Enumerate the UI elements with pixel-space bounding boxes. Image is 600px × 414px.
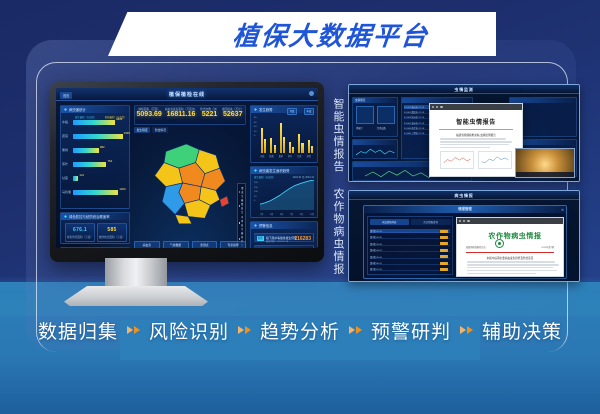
document-rule (439, 129, 513, 130)
panel-title: 病虫害统计 (69, 107, 86, 112)
table-row[interactable]: 第6期 06-12 (370, 261, 450, 265)
panel-title: 发生趋势 (259, 107, 273, 112)
y-axis-ticks: 200150100500 (254, 181, 258, 204)
x-tick: 茶叶 (288, 154, 292, 158)
text-line (467, 267, 553, 268)
document-charts (440, 151, 512, 169)
document-subtitle: 水稻中后期主要病虫发生趋势及防治意见 (461, 256, 559, 260)
bar (301, 143, 303, 153)
legend-row: 中等发生 (239, 215, 244, 231)
kpi-value: 5221 (200, 111, 219, 118)
bar (274, 145, 276, 153)
panel-occurrence-trend: 发生趋势 月度 年度 水稻蔬菜果树茶叶甘蔗其他 806040200 (250, 105, 318, 163)
table-row[interactable]: 第1期 01-15 (370, 229, 450, 233)
kpi-caption: 统防统治面积（万亩） (98, 235, 126, 239)
mini-dashboard: 虫情监测 虫情概览 测报灯 性诱设备 (349, 85, 579, 181)
mini-title: 虫情监测 (454, 87, 473, 93)
panel-header: 病虫害统计 (61, 106, 129, 113)
kpi-value: 16811.16 (165, 111, 197, 118)
panel-green-control: 绿色防控与统防统治覆盖率 676.1 绿色防控面积（万亩） 585 统防统治面积… (60, 212, 130, 244)
kpi-value: 5093.69 (137, 111, 162, 118)
bar (270, 138, 272, 153)
document-sparkline (443, 154, 471, 165)
legend-row: 偏重发生 (239, 198, 244, 214)
screenshot-pest-bulletin[interactable]: 病虫情报 情报管理 ✕ 病虫情报列表 历史情报查询 第1期 01-15第2期 0… (348, 190, 580, 282)
flow-arrow-icon (349, 326, 362, 334)
flow-step-3: 趋势分析 (260, 317, 340, 344)
toolbar-dot-icon (467, 220, 469, 222)
y-tick: 200 (254, 181, 258, 186)
dashboard: 首页 植保植检在线 病虫害统计 发生面积（万亩次） 防治面积（万亩次） 水稻18… (56, 88, 318, 248)
text-line (467, 270, 557, 271)
document-chart (440, 151, 474, 169)
text-line (440, 144, 509, 145)
table-row[interactable]: 第4期 04-22 (370, 248, 450, 252)
y-axis-ticks: 806040200 (254, 116, 256, 139)
bar-value: 121 (79, 173, 84, 177)
document-meta: 福建省植保植检总站 2024年第7期 (466, 245, 554, 249)
flow-step-1: 数据归集 (38, 317, 118, 344)
x-tick: 9月 (300, 212, 303, 216)
green-emblem-icon (495, 239, 504, 248)
flow-arrow-icon (238, 326, 251, 334)
legend-1: 发生面积（万亩次） (75, 115, 97, 119)
diamond-icon (254, 224, 257, 227)
bar-fill (73, 162, 106, 167)
document-toolbar[interactable] (457, 218, 563, 224)
diamond-icon (254, 108, 257, 111)
toolbar-dot-icon (463, 220, 465, 222)
dashboard-title: 植保植检在线 (169, 91, 205, 98)
mini-panel-title (353, 140, 397, 145)
x-tick: 3月 (270, 212, 273, 216)
meta-left: 福建省植保植检总站 (466, 245, 486, 249)
panel-title: 绿色防控与统防统治覆盖率 (69, 214, 110, 219)
action-badge[interactable] (440, 268, 448, 271)
sparkline-a (355, 146, 397, 158)
action-badge[interactable] (440, 236, 448, 239)
device-card (356, 106, 374, 124)
mini-dashboard: 病虫情报 情报管理 ✕ 病虫情报列表 历史情报查询 第1期 01-15第2期 0… (349, 191, 579, 281)
bar (283, 137, 285, 154)
bar-row: 甘蔗121 (73, 176, 127, 181)
x-tick: 5月 (280, 212, 283, 216)
modal-dialog[interactable]: 情报管理 ✕ 病虫情报列表 历史情报查询 第1期 01-15第2期 02-20第… (363, 205, 567, 279)
panel-title: 病虫害发生面积趋势 (259, 168, 290, 173)
label-crop-pest-bulletin: 农作物病虫情报 (326, 186, 343, 278)
panel-header: 预警信息 (251, 222, 317, 229)
toolbar-dot-icon (436, 106, 438, 108)
flow-arrow-icon (127, 326, 140, 334)
range-button-month[interactable]: 月度 (287, 108, 297, 115)
x-axis-ticks: 1月3月5月7月9月11月 (260, 212, 314, 216)
bar-value: 764 (107, 159, 112, 163)
document-subtitle: 福建省植保植检总站 虫情监测报告 (434, 133, 518, 137)
area-chart-svg (260, 180, 314, 210)
mini-panel-chart-a (352, 139, 398, 159)
kpi-item: 挽回损失（万元） 52637 (222, 106, 244, 118)
bar-value: 982 (100, 145, 105, 149)
monitor-screen: 首页 植保植检在线 病虫害统计 发生面积（万亩次） 防治面积（万亩次） 水稻18… (56, 88, 318, 248)
document-page: 智能虫情报告 福建省植保植检总站 虫情监测报告 (434, 112, 518, 173)
bar (264, 139, 266, 153)
flow-step-4: 预警研判 (371, 317, 451, 344)
action-badge[interactable] (440, 242, 448, 245)
image-thumbnail[interactable] (515, 148, 575, 178)
panel-area-trend: 病虫害发生面积趋势 发生面积（万亩次） 2024-01 至 2024-12 20… (250, 166, 318, 218)
meta-right: 2024年第7期 (541, 245, 554, 249)
panel-header: 病虫害发生面积趋势 (251, 167, 317, 174)
bar (280, 123, 282, 153)
document-title: 农作物病虫情报 (471, 231, 559, 241)
device-label: 性诱设备 (377, 126, 386, 130)
document-chart (478, 151, 512, 169)
text-line (440, 138, 506, 139)
badge: 预警 (257, 236, 264, 241)
range-button-year[interactable]: 年度 (304, 108, 314, 115)
map-button[interactable]: 病虫害 (134, 241, 160, 248)
x-tick: 水稻 (260, 154, 264, 158)
kpi-value: 52637 (222, 111, 244, 118)
kpi-value: 585 (98, 227, 126, 233)
bar-fill (73, 190, 118, 195)
bar-value: 1536 (124, 131, 130, 135)
legend-label: 重发生 (241, 186, 244, 198)
x-tick: 7月 (290, 212, 293, 216)
report-document[interactable]: 智能虫情报告 福建省植保植检总站 虫情监测报告 (429, 103, 523, 177)
dashboard-home-tag[interactable]: 首页 (60, 92, 72, 99)
bar-row: 果树982 (73, 148, 127, 153)
bar-fill (73, 120, 115, 125)
toolbar-dot-icon (440, 106, 442, 108)
document-toolbar[interactable] (430, 104, 522, 110)
action-badge[interactable] (440, 249, 448, 252)
bar-label: 果树 (62, 148, 68, 152)
mini-panel-title: 虫情概览 (353, 98, 397, 103)
bar-fill (73, 134, 123, 139)
bar-label: 蔬菜 (62, 134, 68, 138)
legend-label: 偏重发生 (241, 198, 244, 214)
document-title: 智能虫情报告 (434, 117, 518, 126)
table-row[interactable]: 第3期 03-18 (370, 242, 450, 246)
user-icon[interactable] (309, 91, 314, 96)
bar (311, 146, 313, 153)
bar-row: 茶叶764 (73, 162, 127, 167)
panel-pest-statistics: 病虫害统计 发生面积（万亩次） 防治面积（万亩次） 水稻1824蔬菜1536果树… (60, 105, 130, 209)
kpi-card: 676.1 绿色防控面积（万亩） (65, 223, 95, 242)
flow-arrow-icon (460, 326, 473, 334)
province-map[interactable]: 发生程度 防治情况 (134, 127, 246, 239)
panel-title: 预警信息 (259, 223, 273, 228)
legend-label: 中等发生 (241, 215, 244, 231)
list-item[interactable]: 预警 稻飞虱中等偏重发生预警 发布时间：2024-07-18 216283 (254, 233, 314, 242)
bar (298, 134, 300, 153)
diamond-icon (64, 108, 67, 111)
kpi-caption: 绿色防控面积（万亩） (66, 235, 94, 239)
bar (308, 140, 310, 153)
page-title: 植保大数据平台 (173, 16, 431, 53)
kpi-item: 防治次数（次） 5221 (200, 106, 219, 118)
x-tick: 其他 (307, 154, 311, 158)
bar (289, 142, 291, 153)
text-line (440, 141, 512, 142)
toolbar-dot-icon (459, 220, 461, 222)
flow-step-2: 风险识别 (149, 317, 229, 344)
diamond-icon (254, 169, 257, 172)
text-line (467, 273, 536, 274)
bar-fill (73, 148, 99, 153)
bulletin-document[interactable]: 农作物病虫情报 福建省植保植检总站 2024年第7期 水稻中后期主要病虫发生趋势… (456, 217, 564, 277)
diamond-icon (64, 215, 67, 218)
monitor-chin (50, 248, 324, 262)
x-tick: 甘蔗 (297, 154, 301, 158)
bar-row: 水稻1824 (73, 120, 127, 125)
bar-label: 茶叶 (62, 162, 68, 166)
bar (261, 128, 263, 153)
y-tick: 0 (254, 199, 258, 204)
x-tick: 蔬菜 (269, 154, 273, 158)
map-button-row[interactable]: 病虫害 气象数据 监测点 专家指导 (134, 241, 246, 248)
bar-fill (73, 176, 78, 181)
toolbar-dot-icon (432, 106, 434, 108)
legend-row: 重发生 (239, 186, 244, 198)
monitor-neck (105, 258, 167, 290)
map-button[interactable]: 监测点 (192, 241, 218, 248)
kpi-item: 病虫害发生面积（万亩次） 16811.16 (165, 106, 197, 118)
action-badge[interactable] (440, 255, 448, 258)
action-badge[interactable] (440, 262, 448, 265)
device-label: 测报灯 (356, 126, 363, 130)
series-label: 发生面积（万亩次） (254, 175, 276, 179)
map-svg (134, 131, 246, 235)
bar-chart-trend: 水稻蔬菜果树茶叶甘蔗其他 (260, 118, 314, 153)
kpi-card: 585 统防统治面积（万亩） (97, 223, 127, 242)
bar-row: 蔬菜1536 (73, 134, 127, 139)
screenshot-pest-monitoring[interactable]: 虫情监测 虫情概览 测报灯 性诱设备 (348, 84, 580, 182)
list-item-sub: 发布时间：2024-07-18 (266, 239, 288, 243)
device-card (377, 106, 395, 124)
monitor-mockup: 首页 植保植检在线 病虫害统计 发生面积（万亩次） 防治面积（万亩次） 水稻18… (50, 82, 324, 262)
bulletin-list-panel: 病虫情报列表 历史情报查询 第1期 01-15第2期 02-20第3期 03-1… (367, 216, 453, 275)
tab-row[interactable]: 病虫情报列表 历史情报查询 (368, 217, 452, 226)
area-chart (260, 180, 314, 210)
date-range: 2024-01 至 2024-12 (293, 175, 314, 179)
tab-bulletin-list[interactable]: 病虫情报列表 (370, 219, 410, 225)
mini-title: 病虫情报 (454, 193, 473, 199)
kpi-item: 种植面积（万亩） 5093.69 (137, 106, 162, 118)
panel-header: 绿色防控与统防统治覆盖率 (61, 213, 129, 220)
bar-value: 1824 (116, 117, 122, 121)
text-line (467, 264, 559, 265)
title-banner: 植保大数据平台 (108, 12, 496, 56)
bar-label: 甘蔗 (62, 176, 68, 180)
table-row[interactable]: 第5期 05-16 (370, 255, 450, 259)
flow-step-5: 辅助决策 (482, 317, 562, 344)
map-button[interactable]: 专家指导 (220, 241, 246, 248)
document-page: 农作物病虫情报 福建省植保植检总站 2024年第7期 水稻中后期主要病虫发生趋势… (461, 226, 559, 273)
map-legend: 重发生 偏重发生 中等发生 偏轻发生 轻发生 (237, 183, 246, 248)
poster-stage: 植保大数据平台 首页 植保植检在线 病虫害统计 发生面积（万亩次） 防治面积（万… (0, 0, 600, 414)
text-line (467, 261, 555, 262)
tab-history[interactable]: 历史情报查询 (411, 219, 451, 225)
y-tick: 0 (254, 134, 256, 139)
table-row[interactable]: 第7期 07-10 (370, 267, 450, 271)
modal-title: 情报管理 (364, 206, 566, 213)
table-row[interactable]: 第2期 02-20 (370, 235, 450, 239)
document-sparkline (481, 154, 509, 165)
x-tick: 1月 (260, 212, 263, 216)
document-rule (466, 252, 554, 253)
bar-label: 水稻 (62, 120, 68, 124)
bar-label: 马铃薯 (62, 190, 71, 194)
bar-value: 1203 (119, 187, 125, 191)
kpi-value: 676.1 (66, 227, 94, 233)
bar (292, 147, 294, 153)
close-icon[interactable]: ✕ (561, 208, 564, 212)
x-tick: 11月 (310, 212, 314, 216)
bar-row: 马铃薯1203 (73, 190, 127, 195)
monitor-base (64, 286, 208, 306)
list-item-value: 216283 (294, 236, 311, 242)
label-intelligent-pest-report: 智能虫情报告 (326, 96, 343, 174)
kpi-strip: 种植面积（万亩） 5093.69 病虫害发生面积（万亩次） 16811.16 防… (134, 105, 246, 125)
text-line (440, 147, 490, 148)
action-badge[interactable] (440, 230, 448, 233)
process-flow: 数据归集 风险识别 趋势分析 预警研判 辅助决策 (0, 308, 600, 352)
mini-panel-overview: 虫情概览 测报灯 性诱设备 (352, 97, 398, 137)
text-line (467, 276, 516, 277)
thumbnail-toolbar[interactable] (516, 172, 574, 177)
panel-warning-list: 预警信息 预警 稻飞虱中等偏重发生预警 发布时间：2024-07-18 2162… (250, 221, 318, 248)
x-tick: 果树 (279, 154, 283, 158)
map-button[interactable]: 气象数据 (163, 241, 189, 248)
